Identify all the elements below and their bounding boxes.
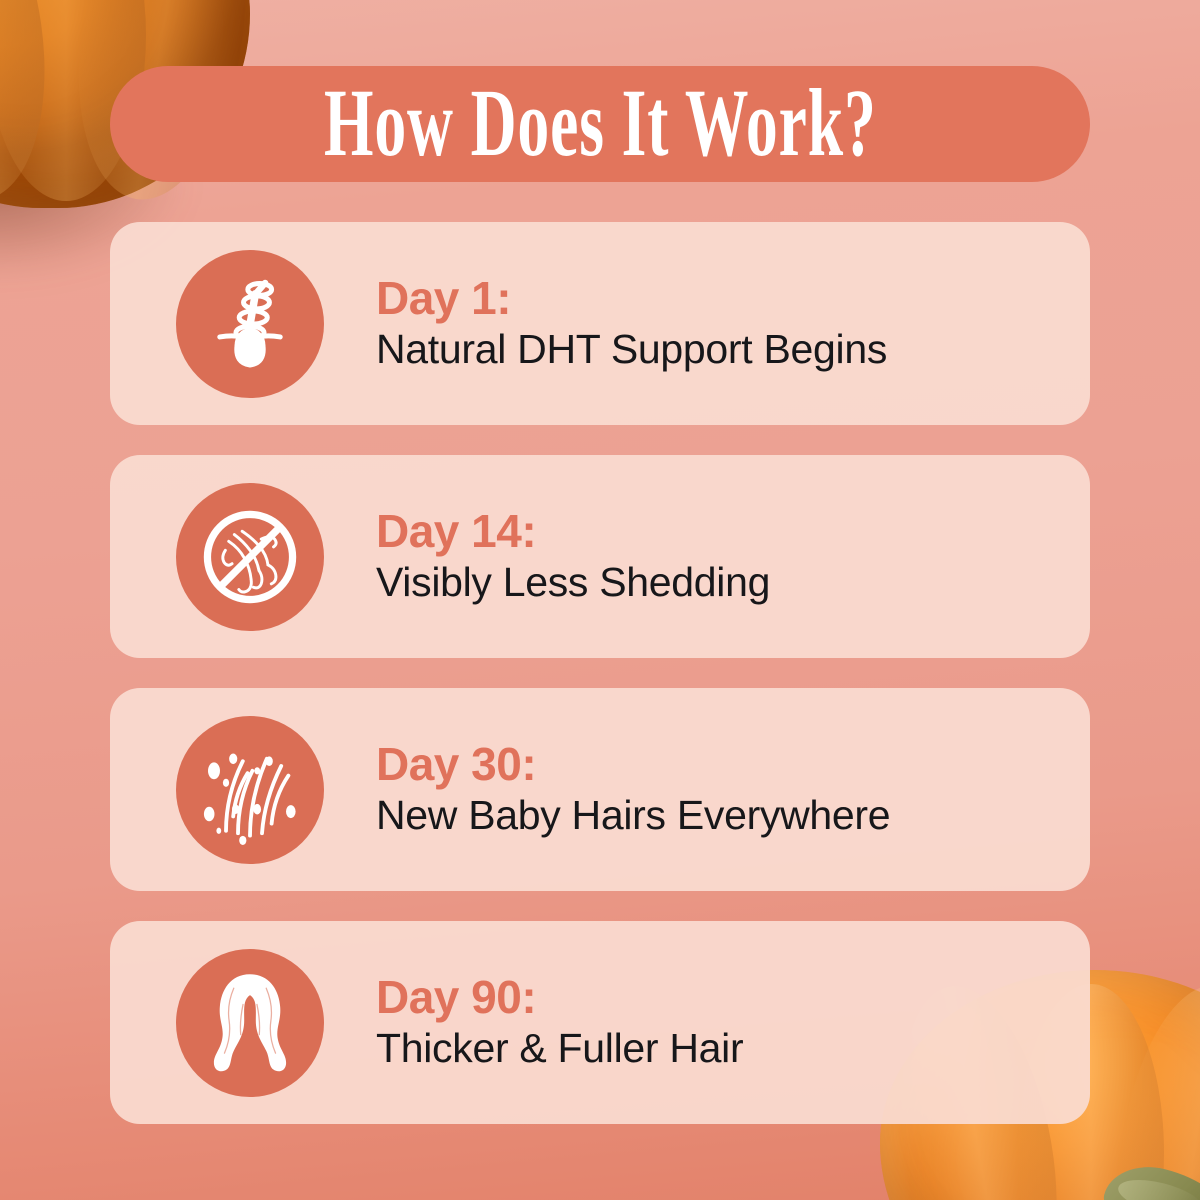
pumpkin-stem: [1098, 1156, 1200, 1200]
hair-follicle-icon: [176, 250, 324, 398]
timeline-card-text: Day 1: Natural DHT Support Begins: [376, 274, 887, 374]
day-label: Day 90:: [376, 973, 743, 1023]
pumpkin-rib: [1098, 976, 1200, 1200]
timeline-card-text: Day 14: Visibly Less Shedding: [376, 507, 770, 607]
day-description: New Baby Hairs Everywhere: [376, 793, 890, 839]
day-label: Day 1:: [376, 274, 887, 324]
new-hair-growth-icon: [176, 716, 324, 864]
timeline-card: Day 90: Thicker & Fuller Hair: [110, 921, 1090, 1124]
poster: How Does It Work?: [0, 0, 1200, 1200]
day-label: Day 30:: [376, 740, 890, 790]
no-shedding-icon: [176, 483, 324, 631]
timeline-card-list: Day 1: Natural DHT Support Begins: [110, 222, 1090, 1124]
title-banner: How Does It Work?: [110, 66, 1090, 182]
timeline-card: Day 30: New Baby Hairs Everywhere: [110, 688, 1090, 891]
day-description: Thicker & Fuller Hair: [376, 1026, 743, 1072]
day-label: Day 14:: [376, 507, 770, 557]
day-description: Natural DHT Support Begins: [376, 327, 887, 373]
pumpkin-rib: [0, 0, 64, 210]
timeline-card: Day 14: Visibly Less Shedding: [110, 455, 1090, 658]
timeline-card: Day 1: Natural DHT Support Begins: [110, 222, 1090, 425]
long-wavy-hair-icon: [176, 949, 324, 1097]
page-title: How Does It Work?: [324, 69, 877, 180]
timeline-card-text: Day 30: New Baby Hairs Everywhere: [376, 740, 890, 840]
timeline-card-text: Day 90: Thicker & Fuller Hair: [376, 973, 743, 1073]
pumpkin-rib: [1157, 971, 1200, 1200]
day-description: Visibly Less Shedding: [376, 560, 770, 606]
